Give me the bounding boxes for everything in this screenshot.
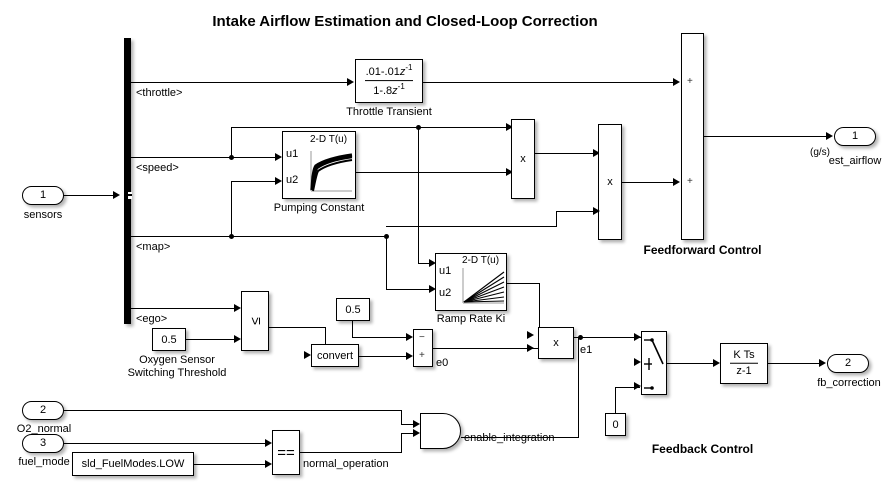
arrow-sum-e0-minus	[406, 333, 413, 341]
wire-setpoint-right	[352, 337, 411, 338]
arrow-product3-in2	[527, 344, 534, 352]
arrow-sum-airflow-in1	[673, 78, 680, 86]
wire-pumping-out	[356, 172, 508, 173]
block-const-o2-threshold-name: Oxygen Sensor Switching Threshold	[117, 354, 237, 379]
ramp-type-label: 2-D T(u)	[462, 255, 499, 267]
block-data-type-convert[interactable]: convert	[311, 344, 359, 367]
block-product-2[interactable]: x	[598, 124, 622, 240]
tf-numerator: .01-.01z-1	[356, 63, 422, 79]
arrow-sum-e0-plus	[406, 352, 413, 360]
outport-est-airflow[interactable]: 1	[834, 127, 876, 146]
arrow-relop-eq-in1	[265, 439, 272, 447]
arrow-switch-in1	[634, 333, 641, 341]
block-relop-le[interactable]: ≤	[241, 291, 269, 351]
arrow-throttle-transient-in	[347, 78, 354, 86]
const-setpoint-value: 0.5	[337, 304, 369, 316]
relop-le-glyph: ≤	[247, 308, 263, 334]
signal-label-speed: <speed>	[136, 162, 179, 175]
arrow-and-in1	[413, 420, 420, 428]
product-3-glyph: x	[539, 337, 573, 349]
block-const-o2-threshold[interactable]: 0.5	[152, 328, 186, 351]
wire-o2-threshold-out	[186, 339, 237, 340]
block-logical-and[interactable]	[420, 413, 461, 449]
inport-fuel-mode[interactable]: 3	[22, 434, 64, 453]
block-const-fuel-mode-low[interactable]: sld_FuelModes.LOW	[72, 452, 194, 476]
tf-fraction-bar	[365, 81, 413, 82]
bus-selector-port-marker	[128, 194, 132, 196]
const-zero-value: 0	[606, 419, 625, 431]
wire-switch-out	[667, 363, 717, 364]
wire-zero-up	[615, 387, 616, 414]
integrator-fraction-bar	[730, 363, 758, 364]
wire-speed	[131, 157, 277, 158]
const-o2-threshold-value: 0.5	[153, 334, 185, 346]
wire-relop-le-out-a	[269, 327, 326, 328]
wire-e1-out	[574, 337, 641, 338]
block-throttle-transient-name: Throttle Transient	[330, 106, 448, 119]
wire-map-up	[231, 181, 232, 237]
arrow-integrator-in	[713, 359, 720, 367]
arrow-product3-in1	[527, 331, 534, 339]
wire-fuel-mode-out	[64, 443, 268, 444]
o2-threshold-name-line1: Oxygen Sensor	[139, 354, 215, 366]
sum-airflow-sign-1: +	[687, 76, 693, 87]
wire-fb-to-product2-a	[386, 226, 557, 227]
block-product-1[interactable]: x	[511, 119, 535, 199]
wire-convert-out	[359, 356, 411, 357]
wire-normal-operation-a	[300, 452, 402, 453]
wire-ramp-out-a	[507, 283, 540, 284]
outport-est-airflow-name: est_airflow	[818, 155, 892, 168]
block-const-zero[interactable]: 0	[605, 413, 626, 436]
const-fuel-mode-low-value: sld_FuelModes.LOW	[73, 458, 193, 470]
arrow-relop-le-in1	[234, 304, 241, 312]
wire-o2-normal-b	[401, 410, 402, 424]
switch-glyph	[642, 332, 668, 396]
inport-o2-normal[interactable]: 2	[22, 401, 64, 420]
wire-map-to-ramp-u2	[386, 289, 431, 290]
o2-threshold-name-line2: Switching Threshold	[128, 367, 227, 379]
wire-map	[131, 236, 386, 237]
integrator-equation: K Ts z-1	[721, 348, 767, 379]
wire-throttle-transient-out	[423, 82, 675, 83]
block-pumping-constant-name: Pumping Constant	[264, 202, 374, 215]
wire-fuel-mode-low-out	[194, 464, 268, 465]
wire-zero-right	[615, 387, 640, 388]
arrow-pumping-u1	[275, 153, 282, 161]
ramp-rate-ki-curve	[459, 267, 505, 309]
wire-sensors-to-bus	[64, 195, 114, 196]
signal-label-throttle: <throttle>	[136, 87, 182, 100]
signal-label-e1: e1	[580, 344, 592, 357]
block-switch[interactable]	[641, 331, 667, 395]
wire-fb-to-product2-c	[556, 211, 598, 212]
simulink-model-canvas: Intake Airflow Estimation and Closed-Loo…	[0, 0, 892, 487]
block-throttle-transient[interactable]: .01-.01z-1 1-.8z-1	[355, 59, 423, 103]
wire-product2-out	[622, 182, 675, 183]
block-product-3[interactable]: x	[538, 327, 574, 359]
wire-map-down-to-ramp	[386, 236, 387, 290]
wire-product1-out	[535, 153, 595, 154]
arrow-bus-in	[113, 191, 120, 199]
inport-sensors[interactable]: 1	[22, 186, 64, 205]
outport-fb-correction-name: fb_correction	[811, 377, 887, 390]
relop-eq-glyph: ==	[273, 444, 299, 461]
tf-denominator: 1-.8z-1	[356, 83, 422, 99]
block-const-setpoint[interactable]: 0.5	[336, 298, 370, 321]
arrow-relop-eq-in2	[265, 460, 272, 468]
outport-fb-correction[interactable]: 2	[827, 354, 869, 373]
block-relop-eq[interactable]: ==	[272, 430, 300, 475]
page-title: Intake Airflow Estimation and Closed-Loo…	[100, 13, 710, 30]
arrow-fb-correction-out	[819, 359, 826, 367]
arrow-relop-le-in2	[234, 335, 241, 343]
signal-label-enable-integration: enable_integration	[464, 432, 555, 445]
lut-input-u1-label: u1	[286, 148, 298, 161]
wire-e0-out	[433, 348, 539, 349]
product-2-glyph: x	[599, 176, 621, 188]
wire-speed-up-right	[231, 127, 418, 128]
wire-enable-up	[578, 337, 579, 438]
wire-pumping-branch-down	[418, 127, 419, 264]
integrator-numerator: K Ts	[721, 348, 767, 362]
arrow-sum-airflow-in2	[673, 178, 680, 186]
block-sum-e0[interactable]: − +	[413, 329, 433, 367]
wire-setpoint-down	[352, 321, 353, 338]
integrator-denominator: z-1	[721, 365, 767, 379]
lut-type-label: 2-D T(u)	[310, 134, 347, 146]
signal-label-normal-operation: normal_operation	[303, 458, 389, 471]
wire-integrator-out	[768, 363, 823, 364]
wire-fb-to-product2-b	[556, 211, 557, 227]
bus-selector[interactable]	[124, 38, 131, 324]
wire-ego	[131, 308, 237, 309]
annotation-feedforward: Feedforward Control	[620, 243, 785, 257]
inport-sensors-name: sensors	[8, 209, 78, 222]
signal-label-e0: e0	[436, 357, 448, 370]
wire-speed-top-to-product1	[416, 127, 508, 128]
arrow-switch-in3	[634, 382, 641, 390]
sum-e0-sign-2: +	[419, 350, 425, 361]
block-ramp-rate-ki[interactable]: u1 u2 2-D T(u)	[435, 253, 507, 311]
convert-label: convert	[312, 350, 358, 362]
wire-map-to-u2	[231, 181, 277, 182]
block-ramp-rate-ki-name: Ramp Rate Ki	[427, 313, 515, 326]
wire-speed-up	[231, 127, 232, 158]
wire-sum-airflow-out	[704, 136, 830, 137]
wire-o2-normal-a	[64, 410, 402, 411]
sum-airflow-sign-2: +	[687, 176, 693, 187]
lut-input-u2-label: u2	[286, 174, 298, 187]
arrow-est-airflow-out	[826, 132, 833, 140]
signal-label-map: <map>	[136, 241, 170, 254]
arrow-and-in2	[413, 429, 420, 437]
signal-label-ego: <ego>	[136, 313, 167, 326]
pumping-constant-curve	[307, 149, 353, 195]
block-sum-airflow[interactable]: + +	[681, 33, 704, 240]
sum-e0-sign-1: −	[419, 332, 425, 343]
arrow-product2-in2	[593, 207, 600, 215]
block-discrete-integrator[interactable]: K Ts z-1	[720, 343, 768, 384]
ramp-input-u2-label: u2	[439, 287, 451, 300]
arrow-pumping-u2	[275, 177, 282, 185]
ramp-input-u1-label: u1	[439, 265, 451, 278]
annotation-feedback: Feedback Control	[620, 442, 785, 456]
throttle-transient-equation: .01-.01z-1 1-.8z-1	[356, 63, 422, 99]
arrow-switch-in2	[634, 358, 641, 366]
product-1-glyph: x	[512, 153, 534, 165]
arrow-convert-in	[304, 351, 311, 359]
wire-normal-operation-b	[401, 433, 402, 453]
block-pumping-constant[interactable]: u1 u2 2-D T(u)	[282, 131, 356, 199]
wire-throttle	[131, 82, 349, 83]
